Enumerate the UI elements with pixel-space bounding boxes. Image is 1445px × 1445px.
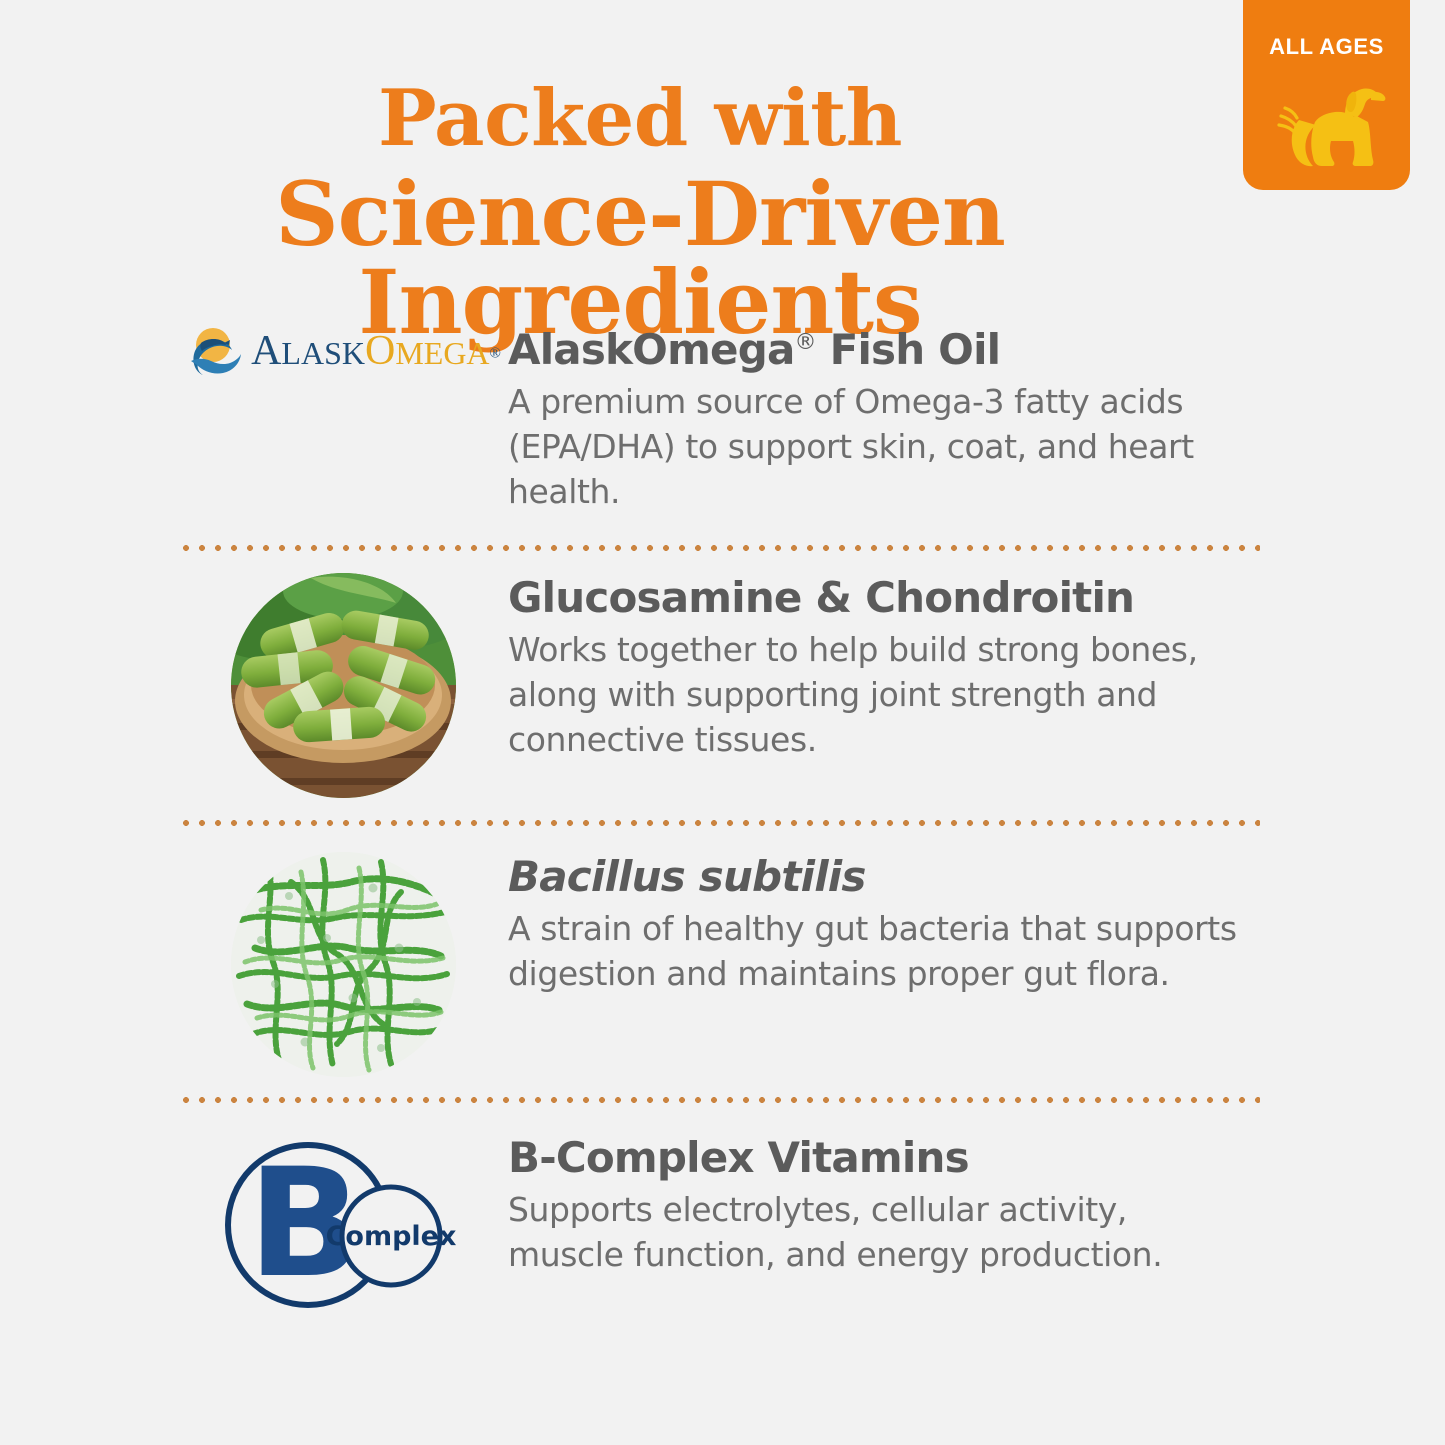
page-title-line-2: Science-Driven Ingredients [0,170,1280,346]
b-complex-badge-text: Complex [326,1221,457,1252]
ingredient-body-alaskomega: AlaskOmega® Fish Oil A premium source of… [508,325,1260,515]
sitting-dog-silhouette-icon [1267,62,1387,182]
alaskomega-lask: LASK [281,335,365,371]
ingredient-row-bacillus: Bacillus subtilis A strain of healthy gu… [178,826,1260,1097]
all-ages-badge-label: ALL AGES [1243,34,1410,60]
ingredient-row-glucosamine: Glucosamine & Chondroitin Works together… [178,551,1260,820]
alaskomega-logo: ALASKOMEGA® [185,325,501,377]
ingredient-body-bacillus: Bacillus subtilis A strain of healthy gu… [508,852,1260,997]
b-complex-logo-art: B Complex [223,1133,463,1318]
ingredient-title-alaskomega-suffix: Fish Oil [816,325,1001,374]
ingredient-row-bcomplex: B Complex B-Complex Vitamins Supports el… [178,1103,1260,1318]
ingredient-media-bcomplex: B Complex [178,1133,508,1318]
page-title-line-1: Packed with [0,80,1280,158]
capsules-photo-art [231,573,456,798]
b-complex-logo: B Complex [223,1133,463,1318]
ingredient-description-alaskomega: A premium source of Omega-3 fatty acids … [508,380,1250,515]
green-capsules-in-wooden-bowl-photo [231,573,456,798]
ingredient-title-bacillus: Bacillus subtilis [508,854,1250,899]
alaskomega-wordmark: ALASKOMEGA® [251,330,501,372]
ingredient-title-alaskomega-regmark: ® [795,330,816,355]
ingredient-description-glucosamine: Works together to help build strong bone… [508,628,1250,763]
ingredient-description-bcomplex: Supports electrolytes, cellular activity… [508,1188,1250,1278]
ingredient-media-glucosamine [178,573,508,798]
ingredient-media-bacillus [178,852,508,1077]
ingredient-row-alaskomega: ALASKOMEGA® AlaskOmega® Fish Oil A premi… [178,325,1260,545]
ingredient-description-bacillus: A strain of healthy gut bacteria that su… [508,907,1250,997]
ingredient-media-alaskomega: ALASKOMEGA® [178,325,508,377]
fish-wave-sun-emblem-icon [185,325,243,377]
ingredient-title-alaskomega-name: AlaskOmega [508,325,795,374]
alaskomega-letter-a: A [251,328,281,374]
alaskomega-letter-o: O [365,328,395,374]
alaskomega-mega: MEGA [395,335,489,371]
ingredient-body-glucosamine: Glucosamine & Chondroitin Works together… [508,573,1260,763]
bacillus-subtilis-microscopy-photo [231,852,456,1077]
ingredient-list: ALASKOMEGA® AlaskOmega® Fish Oil A premi… [178,325,1260,1318]
page-title: Packed with Science-Driven Ingredients [0,80,1280,346]
ingredient-body-bcomplex: B-Complex Vitamins Supports electrolytes… [508,1133,1260,1278]
bacteria-microscopy-art [231,852,456,1077]
ingredient-title-alaskomega: AlaskOmega® Fish Oil [508,327,1250,372]
ingredient-title-bcomplex: B-Complex Vitamins [508,1135,1250,1180]
alaskomega-registered-mark: ® [490,346,501,362]
ingredient-title-glucosamine: Glucosamine & Chondroitin [508,575,1250,620]
